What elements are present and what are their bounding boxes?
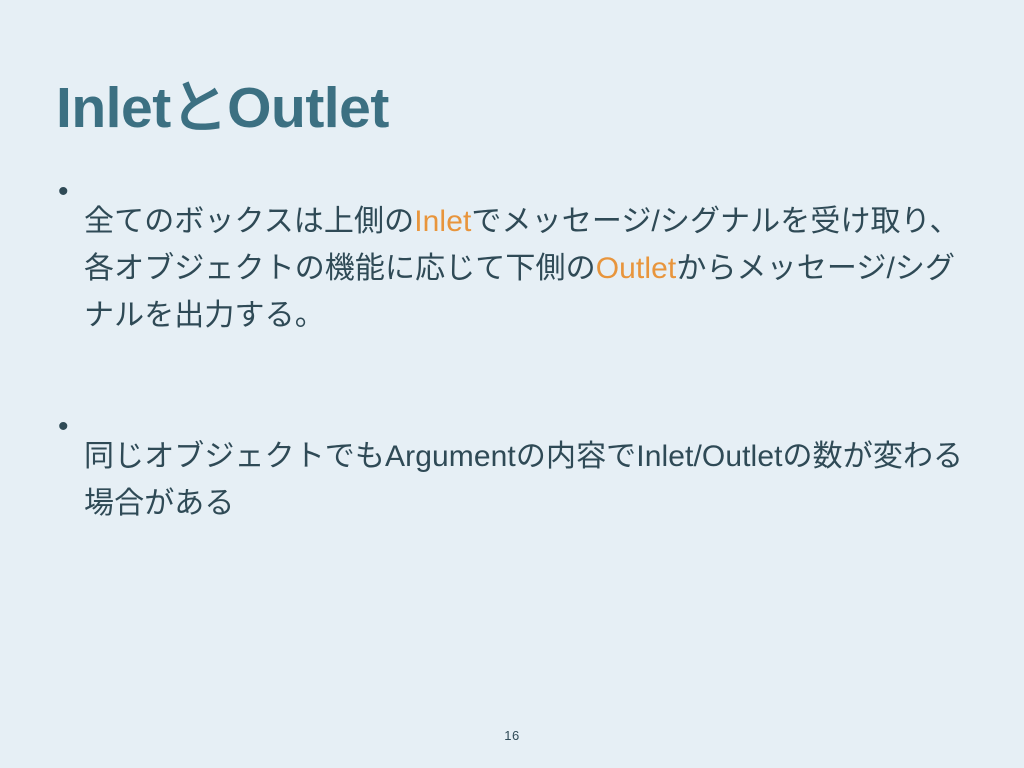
list-item: • 全てのボックスは上側のInletでメッセージ/シグナルを受け取り、各オブジェ… <box>52 168 968 369</box>
bullet-segment: 同じオブジェクトでもArgumentの内容でInlet/Outletの数が変わる… <box>84 440 963 520</box>
bullet-marker-icon: • <box>52 403 84 450</box>
page-number: 16 <box>0 728 1024 743</box>
bullet-text: 全てのボックスは上側のInletでメッセージ/シグナルを受け取り、各オブジェクト… <box>84 198 968 339</box>
slide-body: • 全てのボックスは上側のInletでメッセージ/シグナルを受け取り、各オブジェ… <box>52 168 968 557</box>
bullet-segment-highlight-outlet: Outlet <box>596 252 677 285</box>
page-title: InletとOutlet <box>56 76 389 142</box>
list-item: • 同じオブジェクトでもArgumentの内容でInlet/Outletの数が変… <box>52 403 968 557</box>
bullet-segment-highlight-inlet: Inlet <box>414 205 471 238</box>
slide-canvas: InletとOutlet • 全てのボックスは上側のInletでメッセージ/シグ… <box>0 0 1024 768</box>
bullet-text: 同じオブジェクトでもArgumentの内容でInlet/Outletの数が変わる… <box>84 433 968 527</box>
bullet-segment: 全てのボックスは上側の <box>84 205 414 238</box>
bullet-marker-icon: • <box>52 168 84 215</box>
